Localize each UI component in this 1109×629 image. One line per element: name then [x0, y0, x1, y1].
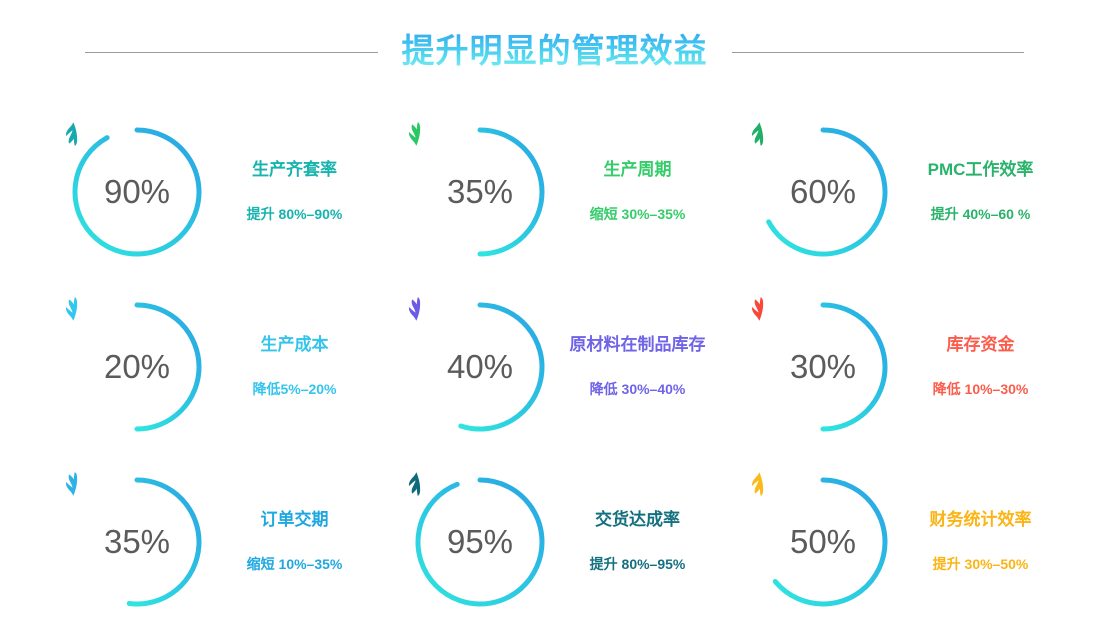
- metric-card[interactable]: 95%交货达成率提升 80%–95%: [383, 454, 726, 629]
- metric-name: 库存资金: [947, 335, 1015, 355]
- metric-delta: 提升 80%–90%: [247, 206, 343, 223]
- progress-ring-arc: [775, 480, 885, 604]
- progress-ring-svg: [748, 117, 898, 267]
- progress-ring: 35%: [405, 117, 555, 267]
- progress-ring: 35%: [62, 467, 212, 617]
- progress-ring-svg: [405, 292, 555, 442]
- metric-name: 财务统计效率: [930, 510, 1032, 530]
- progress-ring-arc: [461, 305, 542, 429]
- progress-ring: 50%: [748, 467, 898, 617]
- metric-name: 生产成本: [261, 335, 329, 355]
- metric-name: 原材料在制品库存: [570, 335, 706, 355]
- metric-labels: PMC工作效率提升 40%–60 %: [898, 160, 1069, 223]
- metric-delta: 缩短 30%–35%: [590, 206, 686, 223]
- progress-ring: 40%: [405, 292, 555, 442]
- metric-card[interactable]: 20%生产成本降低5%–20%: [40, 279, 383, 454]
- progress-ring: 20%: [62, 292, 212, 442]
- metric-delta: 降低 30%–40%: [590, 381, 686, 398]
- progress-ring-svg: [405, 467, 555, 617]
- metric-delta: 提升 40%–60 %: [931, 206, 1031, 223]
- metric-labels: 财务统计效率提升 30%–50%: [898, 510, 1069, 573]
- progress-ring-arc: [75, 130, 199, 254]
- metric-labels: 生产成本降低5%–20%: [212, 335, 383, 398]
- progress-ring-arc: [823, 305, 885, 429]
- progress-ring-svg: [405, 117, 555, 267]
- metric-card[interactable]: 50%财务统计效率提升 30%–50%: [726, 454, 1069, 629]
- metric-card[interactable]: 90%生产齐套率提升 80%–90%: [40, 104, 383, 279]
- progress-ring: 95%: [405, 467, 555, 617]
- metric-labels: 生产齐套率提升 80%–90%: [212, 160, 383, 223]
- metric-name: 生产周期: [604, 160, 672, 180]
- metric-delta: 降低5%–20%: [252, 381, 336, 398]
- metric-delta: 缩短 10%–35%: [247, 556, 343, 573]
- progress-ring-svg: [62, 292, 212, 442]
- progress-ring: 30%: [748, 292, 898, 442]
- metric-labels: 原材料在制品库存降低 30%–40%: [555, 335, 726, 398]
- progress-ring-svg: [62, 117, 212, 267]
- metric-grid: 90%生产齐套率提升 80%–90%35%生产周期缩短 30%–35%60%PM…: [0, 104, 1109, 629]
- metric-name: PMC工作效率: [928, 160, 1034, 180]
- metric-card[interactable]: 40%原材料在制品库存降低 30%–40%: [383, 279, 726, 454]
- progress-ring: 60%: [748, 117, 898, 267]
- metric-labels: 订单交期缩短 10%–35%: [212, 510, 383, 573]
- progress-ring-svg: [748, 292, 898, 442]
- progress-ring-arc: [137, 305, 199, 429]
- title-rule-right: [732, 52, 1025, 53]
- metric-card[interactable]: 35%生产周期缩短 30%–35%: [383, 104, 726, 279]
- metric-labels: 库存资金降低 10%–30%: [898, 335, 1069, 398]
- metric-labels: 交货达成率提升 80%–95%: [555, 510, 726, 573]
- metric-delta: 提升 30%–50%: [933, 556, 1029, 573]
- page-header: 提升明显的管理效益: [0, 0, 1109, 104]
- progress-ring-arc: [480, 130, 542, 254]
- title-rule-left: [85, 52, 378, 53]
- progress-ring-arc: [418, 480, 542, 604]
- metric-delta: 降低 10%–30%: [933, 381, 1029, 398]
- metric-card[interactable]: 35%订单交期缩短 10%–35%: [40, 454, 383, 629]
- metric-labels: 生产周期缩短 30%–35%: [555, 160, 726, 223]
- progress-ring-svg: [62, 467, 212, 617]
- metric-card[interactable]: 30%库存资金降低 10%–30%: [726, 279, 1069, 454]
- metric-card[interactable]: 60%PMC工作效率提升 40%–60 %: [726, 104, 1069, 279]
- metric-name: 订单交期: [261, 510, 329, 530]
- progress-ring: 90%: [62, 117, 212, 267]
- progress-ring-svg: [748, 467, 898, 617]
- metric-name: 生产齐套率: [252, 160, 337, 180]
- progress-ring-arc: [769, 130, 885, 254]
- page-title: 提升明显的管理效益: [400, 30, 710, 75]
- metric-name: 交货达成率: [595, 510, 680, 530]
- progress-ring-arc: [129, 480, 199, 604]
- metric-delta: 提升 80%–95%: [590, 556, 686, 573]
